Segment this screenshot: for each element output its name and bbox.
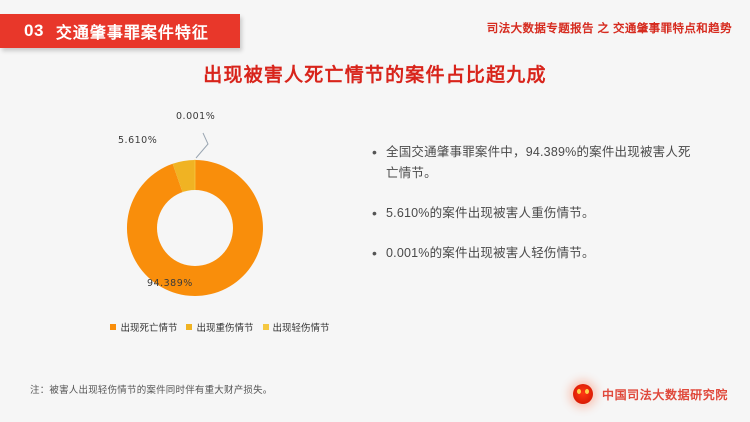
list-item: • 0.001%的案件出现被害人轻伤情节。 bbox=[372, 243, 702, 264]
bullet-icon: • bbox=[372, 203, 386, 224]
legend-label: 出现重伤情节 bbox=[196, 320, 253, 334]
donut-hole bbox=[157, 190, 233, 266]
breadcrumb: 司法大数据专题报告 之 交通肇事罪特点和趋势 bbox=[487, 20, 732, 36]
section-tag: 03 交通肇事罪案件特征 bbox=[0, 14, 240, 48]
slice-label-serious-injury: 5.610% bbox=[118, 135, 157, 146]
legend-swatch-icon bbox=[110, 324, 116, 330]
list-item: • 5.610%的案件出现被害人重伤情节。 bbox=[372, 203, 702, 224]
slice-label-minor-injury: 0.001% bbox=[176, 111, 215, 122]
page-title: 出现被害人死亡情节的案件占比超九成 bbox=[0, 60, 750, 87]
donut-svg bbox=[122, 155, 268, 301]
slice-label-death: 94.389% bbox=[147, 278, 193, 289]
donut-chart: 94.389% 5.610% 0.001% 出现死亡情节 出现重伤情节 出现轻伤… bbox=[90, 110, 350, 360]
slide-canvas: 03 交通肇事罪案件特征 司法大数据专题报告 之 交通肇事罪特点和趋势 出现被害… bbox=[0, 0, 750, 422]
legend-swatch-icon bbox=[186, 324, 192, 330]
bullet-icon: • bbox=[372, 142, 386, 163]
legend-item-minor-injury[interactable]: 出现轻伤情节 bbox=[263, 320, 330, 334]
section-title: 交通肇事罪案件特征 bbox=[56, 19, 209, 43]
list-item-text: 5.610%的案件出现被害人重伤情节。 bbox=[386, 203, 595, 224]
list-item: • 全国交通肇事罪案件中，94.389%的案件出现被害人死亡情节。 bbox=[372, 142, 702, 184]
brand-name: 中国司法大数据研究院 bbox=[602, 386, 728, 403]
bullet-list: • 全国交通肇事罪案件中，94.389%的案件出现被害人死亡情节。 • 5.61… bbox=[372, 142, 702, 283]
chart-legend: 出现死亡情节 出现重伤情节 出现轻伤情节 bbox=[90, 320, 350, 334]
legend-label: 出现死亡情节 bbox=[120, 320, 177, 334]
legend-label: 出现轻伤情节 bbox=[273, 320, 330, 334]
list-item-text: 0.001%的案件出现被害人轻伤情节。 bbox=[386, 243, 595, 264]
brand-block: 中国司法大数据研究院 bbox=[573, 384, 728, 404]
bullet-icon: • bbox=[372, 243, 386, 264]
institute-emblem-icon bbox=[573, 384, 593, 404]
donut-graphic bbox=[122, 155, 268, 301]
section-number: 03 bbox=[24, 21, 44, 41]
legend-swatch-icon bbox=[263, 324, 269, 330]
footnote: 注：被害人出现轻伤情节的案件同时伴有重大财产损失。 bbox=[30, 382, 273, 396]
legend-item-serious-injury[interactable]: 出现重伤情节 bbox=[186, 320, 253, 334]
legend-item-death[interactable]: 出现死亡情节 bbox=[110, 320, 177, 334]
list-item-text: 全国交通肇事罪案件中，94.389%的案件出现被害人死亡情节。 bbox=[386, 142, 702, 184]
